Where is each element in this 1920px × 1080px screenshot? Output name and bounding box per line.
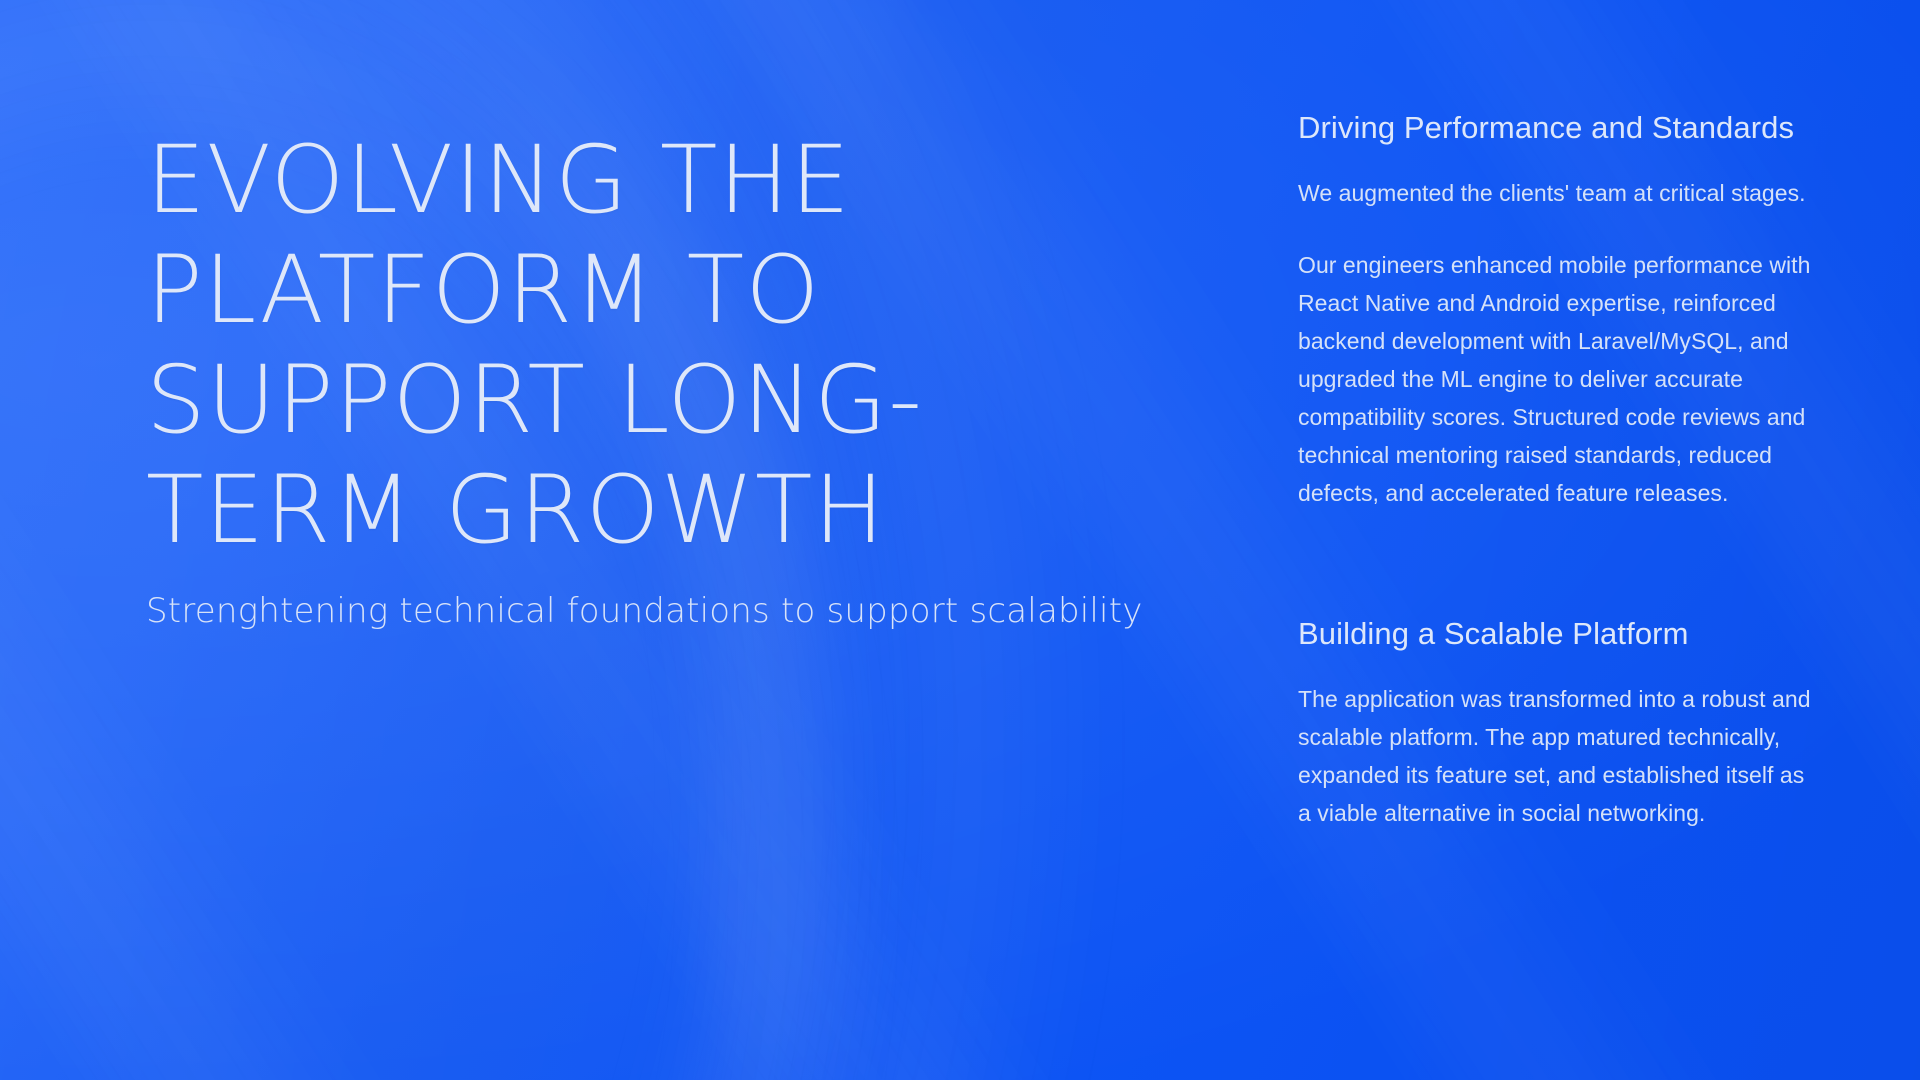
details-column: Driving Performance and Standards We aug… [1298, 104, 1818, 832]
section-paragraph: Our engineers enhanced mobile performanc… [1298, 246, 1818, 512]
section-title: Driving Performance and Standards [1298, 104, 1818, 152]
section-building-scalable-platform: Building a Scalable Platform The applica… [1298, 610, 1818, 832]
headline-column: Evolving the platform to support long-te… [146, 126, 1206, 630]
section-title: Building a Scalable Platform [1298, 610, 1818, 658]
slide-headline: Evolving the platform to support long-te… [146, 126, 976, 566]
slide-subheadline: Strenghtening technical foundations to s… [146, 592, 1146, 630]
section-paragraph: The application was transformed into a r… [1298, 680, 1818, 832]
slide-canvas: Evolving the platform to support long-te… [0, 0, 1920, 1080]
section-driving-performance: Driving Performance and Standards We aug… [1298, 104, 1818, 512]
section-paragraph: We augmented the clients' team at critic… [1298, 174, 1818, 212]
slide-content: Evolving the platform to support long-te… [0, 0, 1920, 1080]
